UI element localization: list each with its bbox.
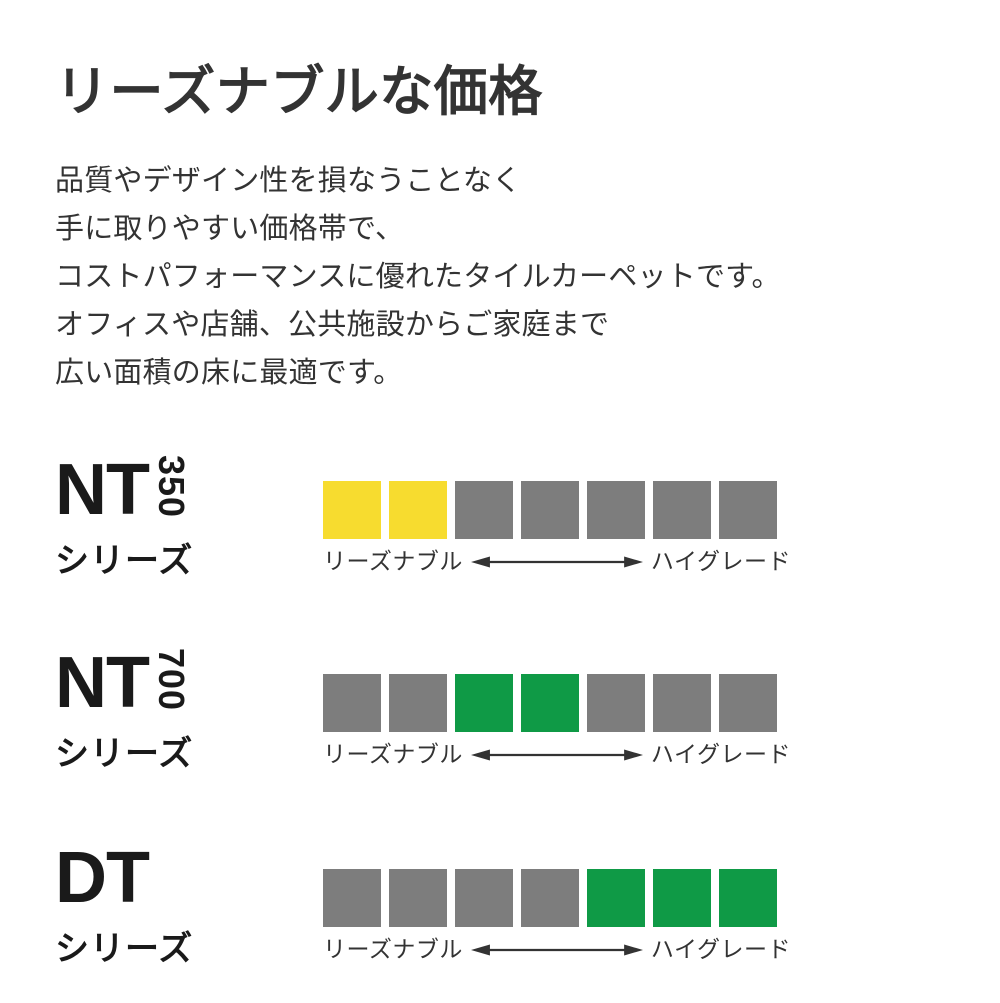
page-title: リーズナブルな価格: [55, 62, 955, 122]
series-row: NT 350 シリーズ リーズナブル ハイグレード: [0, 455, 1000, 615]
swatch-7: [719, 481, 777, 539]
scale-right-label: ハイグレード: [651, 743, 791, 766]
body-line: コストパフォーマンスに優れたタイルカーペットです。: [55, 253, 955, 301]
body-line: 品質やデザイン性を損なうことなく: [55, 157, 955, 205]
scale-legend: リーズナブル ハイグレード: [323, 938, 791, 961]
scale-legend: リーズナブル ハイグレード: [323, 550, 791, 573]
double-headed-arrow-icon: [471, 744, 643, 766]
swatch-6: [653, 481, 711, 539]
swatch-5: [587, 869, 645, 927]
swatch-2: [389, 869, 447, 927]
series-label-nt350: NT 350 シリーズ: [55, 455, 295, 605]
swatch-strip: [323, 869, 793, 927]
series-name-line: NT 350: [55, 455, 295, 529]
series-suffix: シリーズ: [55, 921, 295, 970]
series-number: 350: [153, 455, 189, 527]
series-suffix: シリーズ: [55, 726, 295, 775]
heading-block: リーズナブルな価格: [55, 62, 955, 122]
scale-right-label: ハイグレード: [651, 550, 791, 573]
swatch-6: [653, 869, 711, 927]
swatch-3: [455, 869, 513, 927]
scale-block: リーズナブル ハイグレード: [323, 674, 793, 766]
scale-left-label: リーズナブル: [323, 550, 463, 573]
swatch-7: [719, 869, 777, 927]
swatch-7: [719, 674, 777, 732]
scale-legend: リーズナブル ハイグレード: [323, 743, 791, 766]
swatch-6: [653, 674, 711, 732]
series-code: NT: [55, 455, 149, 526]
scale-block: リーズナブル ハイグレード: [323, 869, 793, 961]
swatch-2: [389, 481, 447, 539]
series-code: DT: [55, 843, 149, 914]
swatch-3: [455, 674, 513, 732]
swatch-4: [521, 869, 579, 927]
series-row: NT 700 シリーズ リーズナブル ハイグレード: [0, 648, 1000, 808]
series-number: 700: [153, 648, 189, 720]
swatch-4: [521, 481, 579, 539]
series-row: DT シリーズ リーズナブル ハイグレード: [0, 843, 1000, 1003]
swatch-5: [587, 481, 645, 539]
series-code: NT: [55, 648, 149, 719]
swatch-strip: [323, 674, 793, 732]
series-suffix: シリーズ: [55, 533, 295, 582]
swatch-1: [323, 869, 381, 927]
body-line: オフィスや店舗、公共施設からご家庭まで: [55, 301, 955, 349]
page-root: リーズナブルな価格 品質やデザイン性を損なうことなく 手に取りやすい価格帯で、 …: [0, 0, 1000, 1000]
body-line: 手に取りやすい価格帯で、: [55, 205, 955, 253]
series-label-nt700: NT 700 シリーズ: [55, 648, 295, 798]
body-copy: 品質やデザイン性を損なうことなく 手に取りやすい価格帯で、 コストパフォーマンス…: [55, 157, 955, 397]
swatch-1: [323, 674, 381, 732]
double-headed-arrow-icon: [471, 939, 643, 961]
swatch-5: [587, 674, 645, 732]
swatch-strip: [323, 481, 793, 539]
swatch-3: [455, 481, 513, 539]
series-name-line: NT 700: [55, 648, 295, 722]
scale-left-label: リーズナブル: [323, 743, 463, 766]
swatch-1: [323, 481, 381, 539]
swatch-4: [521, 674, 579, 732]
scale-left-label: リーズナブル: [323, 938, 463, 961]
series-name-line: DT: [55, 843, 295, 917]
swatch-2: [389, 674, 447, 732]
scale-right-label: ハイグレード: [651, 938, 791, 961]
scale-block: リーズナブル ハイグレード: [323, 481, 793, 573]
double-headed-arrow-icon: [471, 551, 643, 573]
body-line: 広い面積の床に最適です。: [55, 349, 955, 397]
series-label-dt: DT シリーズ: [55, 843, 295, 993]
